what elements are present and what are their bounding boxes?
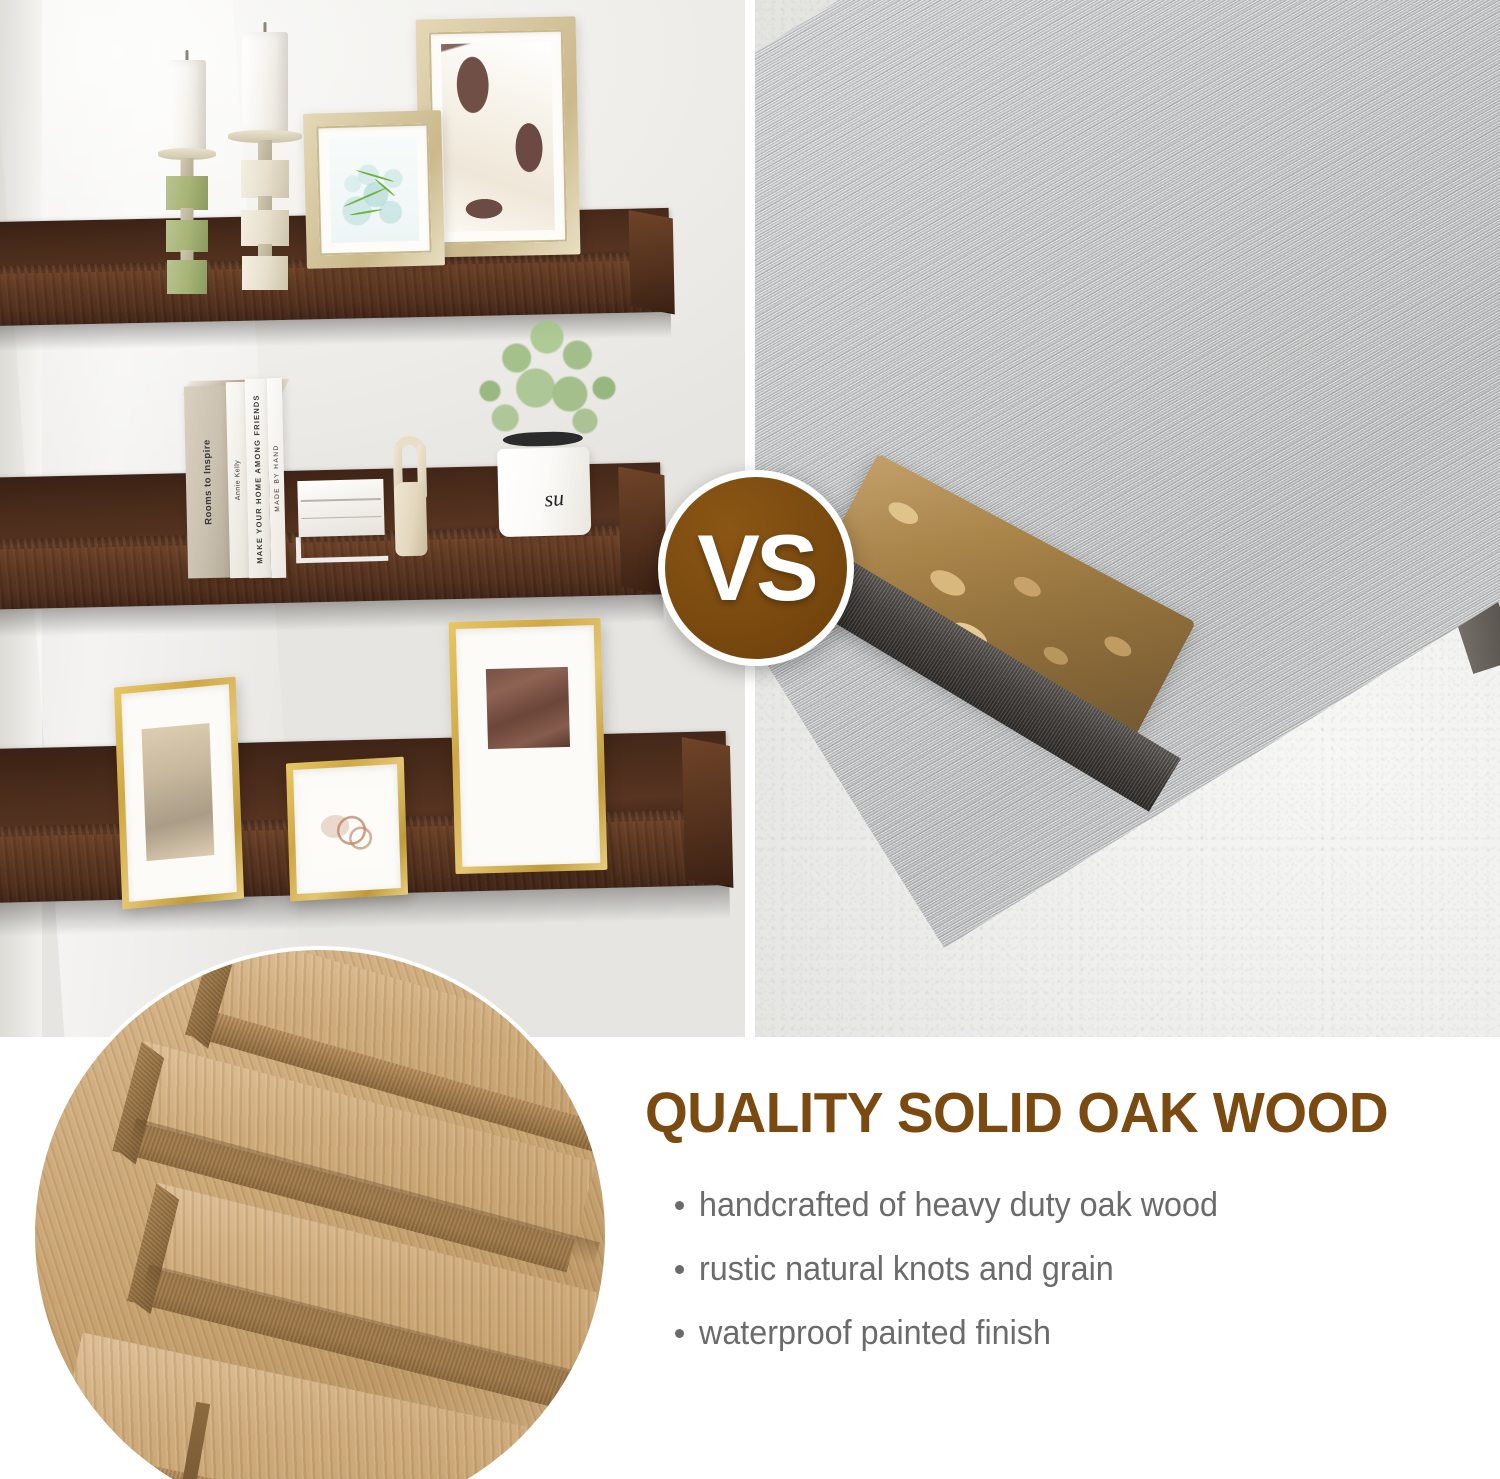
holder-cube — [241, 160, 289, 198]
list-item: rustic natural knots and grain — [675, 1252, 1500, 1286]
particle-board-photo — [755, 0, 1500, 1037]
vase-body — [394, 482, 428, 557]
gold-frame-line-art — [286, 757, 408, 902]
book-spine-title: Rooms to Inspire — [202, 439, 215, 525]
book-spine-title: MAKE YOUR HOME AMONG FRIENDS — [252, 394, 265, 564]
holder-cube — [167, 260, 207, 294]
page-title: QUALITY SOLID OAK WOOD — [645, 1085, 1470, 1142]
bullet-dot-icon — [675, 1265, 684, 1274]
feature-text: waterproof painted finish — [699, 1316, 1051, 1350]
frame-mat — [316, 124, 431, 256]
faux-fern-foliage — [452, 298, 642, 448]
marble-lidded-box — [297, 479, 384, 537]
sculptural-arch-vase — [386, 431, 433, 556]
oak-boards-circle-inset — [35, 950, 605, 1479]
gold-frame-portrait-photo — [114, 677, 244, 910]
vintage-sepia-portrait-photo — [142, 723, 215, 861]
botanical-ivy-print — [329, 136, 420, 243]
book-made-by-hand: MADE BY HAND — [267, 378, 287, 578]
book-spine-author: Annie Kelly — [234, 460, 242, 501]
planter-soil — [503, 431, 583, 447]
bullet-dot-icon — [675, 1329, 684, 1338]
cream-candlestick-holder — [222, 22, 308, 290]
abstract-art-print — [441, 42, 555, 232]
holder-cube — [166, 220, 208, 252]
vintage-sepia-family-photo — [486, 667, 570, 749]
feature-text: handcrafted of heavy duty oak wood — [699, 1188, 1218, 1222]
list-item: waterproof painted finish — [675, 1316, 1500, 1350]
feature-text: rustic natural knots and grain — [699, 1252, 1114, 1286]
bullet-dot-icon — [675, 1201, 684, 1210]
planter-script-text: su — [543, 485, 565, 513]
book-spine-title: MADE BY HAND — [272, 444, 281, 512]
holder-cube — [166, 176, 208, 210]
feature-bullet-list: handcrafted of heavy duty oak wood rusti… — [675, 1188, 1500, 1350]
holder-cube — [241, 210, 289, 246]
holder-rod — [258, 140, 272, 162]
holder-rod — [181, 158, 194, 178]
frame-mat — [429, 30, 567, 245]
ceramic-planter: su — [497, 431, 592, 537]
vs-badge-label: VS — [697, 521, 814, 615]
box-lid-seam — [301, 498, 380, 502]
holder-cube — [242, 256, 288, 290]
pillar-candle — [242, 32, 288, 134]
shelf-end-cap — [682, 737, 734, 888]
feature-text-block: QUALITY SOLID OAK WOOD handcrafted of he… — [645, 1085, 1500, 1415]
pillar-candle — [168, 60, 206, 152]
list-item: handcrafted of heavy duty oak wood — [675, 1188, 1500, 1222]
product-comparison-infographic: Rooms to Inspire Annie Kelly MAKE YOUR H… — [0, 0, 1500, 1479]
gold-frame-family-photo — [449, 618, 608, 874]
vine-lines — [329, 136, 420, 243]
line-art-print — [309, 786, 385, 872]
styled-shelves-photo: Rooms to Inspire Annie Kelly MAKE YOUR H… — [0, 0, 745, 1037]
marble-box-stand — [296, 535, 389, 563]
vs-badge: VS — [658, 470, 854, 666]
box-lid-seam — [302, 516, 381, 520]
botanical-art-frame — [303, 110, 445, 269]
green-candlestick-holder — [152, 50, 222, 290]
book-rooms-to-inspire: Rooms to Inspire — [184, 386, 232, 579]
